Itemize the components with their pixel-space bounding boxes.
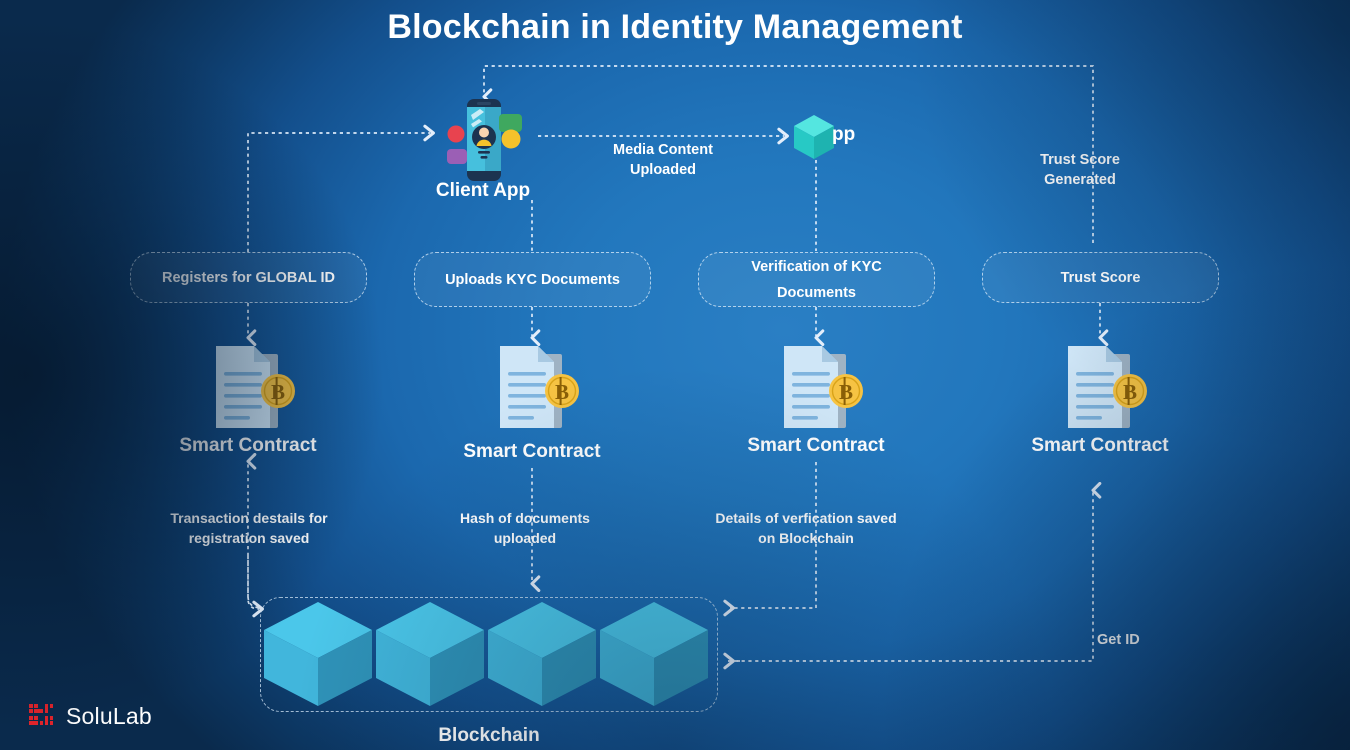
contract-note-1: Transaction destails for registration sa… xyxy=(134,508,364,548)
smart-contract-icon-1: B xyxy=(208,342,298,443)
verification-line1: Verification of KYC xyxy=(751,254,882,280)
note-3-line2: on Blockchain xyxy=(686,528,926,548)
client-app-icon xyxy=(441,97,527,188)
stage-box-uploads-kyc[interactable]: Uploads KYC Documents xyxy=(414,252,651,307)
blockchain-label: Blockchain xyxy=(359,725,619,747)
svg-text:B: B xyxy=(271,380,285,404)
conn-col1-to-chain xyxy=(248,560,259,609)
stage-box-trust-score[interactable]: Trust Score xyxy=(982,252,1219,303)
brand-name: SoluLab xyxy=(66,703,152,730)
media-content-line1: Media Content xyxy=(548,140,778,160)
blockchain-blocks xyxy=(262,600,718,713)
diagram-canvas: Blockchain in Identity Management xyxy=(0,0,1350,750)
note-2-line1: Hash of documents xyxy=(410,508,640,528)
page-title: Blockchain in Identity Management xyxy=(0,8,1350,47)
trust-generated-line2: Generated xyxy=(965,170,1195,190)
stage-box-verification-kyc[interactable]: Verification of KYC Documents xyxy=(698,252,935,307)
smart-contract-label-3: Smart Contract xyxy=(686,435,946,457)
contract-note-2: Hash of documents uploaded xyxy=(410,508,640,548)
svg-text:B: B xyxy=(1123,380,1137,404)
trust-generated-line1: Trust Score xyxy=(965,150,1195,170)
smart-contract-icon-2: B xyxy=(492,342,582,443)
smart-contract-label-2: Smart Contract xyxy=(402,441,662,463)
edge-label-trust-score-generated: Trust Score Generated xyxy=(965,150,1195,190)
smart-contract-icon-3: B xyxy=(776,342,866,443)
solulab-mark-icon xyxy=(28,702,58,730)
note-3-line1: Details of verfication saved xyxy=(686,508,926,528)
svg-text:B: B xyxy=(839,380,853,404)
brand-logo[interactable]: SoluLab xyxy=(28,702,152,730)
smart-contract-label-1: Smart Contract xyxy=(118,435,378,457)
note-1-line2: registration saved xyxy=(134,528,364,548)
smart-contract-icon-4: B xyxy=(1060,342,1150,443)
note-1-line1: Transaction destails for xyxy=(134,508,364,528)
media-content-line2: Uploaded xyxy=(548,160,778,180)
note-2-line2: uploaded xyxy=(410,528,640,548)
conn-col1-down xyxy=(248,556,262,608)
dapp-label: pp xyxy=(832,124,855,146)
edge-label-get-id: Get ID xyxy=(1097,632,1140,648)
svg-text:B: B xyxy=(555,380,569,404)
smart-contract-label-4: Smart Contract xyxy=(970,435,1230,457)
contract-note-3: Details of verfication saved on Blockcha… xyxy=(686,508,926,548)
client-app-label: Client App xyxy=(353,180,613,202)
edge-label-media-content: Media Content Uploaded xyxy=(548,140,778,180)
stage-box-registers[interactable]: Registers for GLOBAL ID xyxy=(130,252,367,303)
verification-line2: Documents xyxy=(777,280,856,306)
